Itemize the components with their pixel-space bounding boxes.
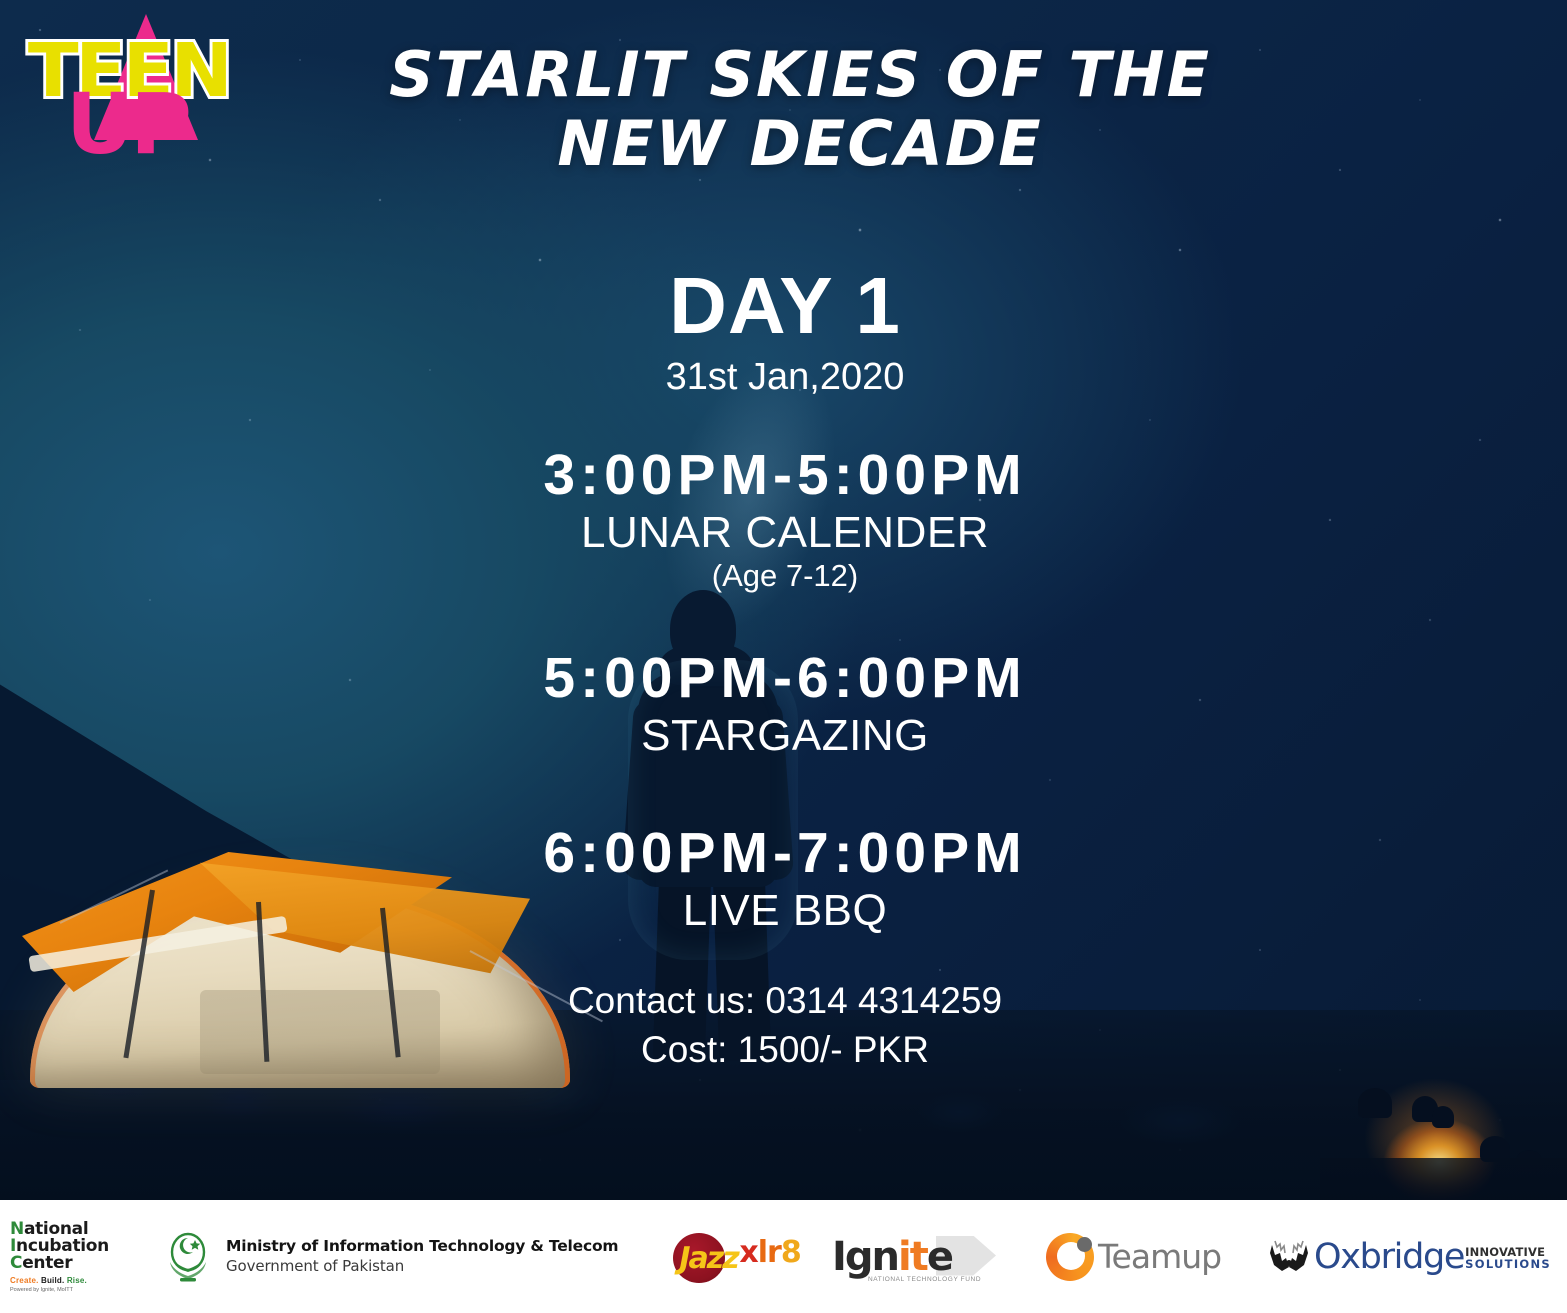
sponsor-national-incubation-center[interactable]: National Incubation Center Create. Build… bbox=[10, 1221, 140, 1293]
schedule-item: 6:00PM-7:00PM LIVE BBQ bbox=[285, 822, 1285, 935]
nic-tagline-3: Rise. bbox=[67, 1276, 87, 1285]
schedule-time: 5:00PM-6:00PM bbox=[285, 647, 1285, 711]
schedule-time: 3:00PM-5:00PM bbox=[285, 444, 1285, 508]
schedule-activity: LIVE BBQ bbox=[285, 886, 1285, 935]
schedule-activity: LUNAR CALENDER bbox=[285, 508, 1285, 557]
nic-tagline-1: Create. bbox=[10, 1276, 39, 1285]
xlr8-r: r bbox=[767, 1235, 781, 1270]
contact-cost: Cost: 1500/- PKR bbox=[285, 1026, 1285, 1075]
logo-up-text: UP bbox=[66, 82, 188, 166]
xlr8-l: l bbox=[758, 1235, 767, 1270]
oxbridge-wordmark: Oxbridge bbox=[1314, 1237, 1464, 1277]
schedule-age-range: (Age 7-12) bbox=[285, 557, 1285, 594]
sponsor-ministry-of-it[interactable]: Ministry of Information Technology & Tel… bbox=[162, 1228, 618, 1286]
teamup-swirl-icon bbox=[1046, 1233, 1094, 1281]
oxbridge-sub-line-2: SOLUTIONS bbox=[1465, 1259, 1551, 1271]
nic-subline: Powered by Ignite, MoITT bbox=[10, 1287, 140, 1293]
nic-line-3: Center bbox=[10, 1255, 140, 1272]
ministry-text: Ministry of Information Technology & Tel… bbox=[226, 1237, 618, 1275]
ignite-wordmark: Ignite bbox=[832, 1234, 952, 1280]
schedule-list: 3:00PM-5:00PM LUNAR CALENDER (Age 7-12) … bbox=[285, 444, 1285, 934]
sponsor-jazz-xlr8[interactable]: Jazz xlr8 bbox=[673, 1229, 823, 1285]
ignite-part-3: e bbox=[927, 1234, 952, 1280]
sponsor-bar: National Incubation Center Create. Build… bbox=[0, 1200, 1567, 1313]
ignite-subtitle: NATIONAL TECHNOLOGY FUND bbox=[868, 1276, 981, 1283]
sponsor-ignite[interactable]: Ignite NATIONAL TECHNOLOGY FUND bbox=[832, 1226, 992, 1288]
pakistan-emblem-icon bbox=[162, 1228, 214, 1286]
campfire bbox=[1320, 1040, 1567, 1210]
ignite-part-2: it bbox=[898, 1234, 927, 1280]
sponsor-teamup[interactable]: Teamup bbox=[1046, 1229, 1226, 1285]
day-date: 31st Jan,2020 bbox=[285, 357, 1285, 399]
contact-block: Contact us: 0314 4314259 Cost: 1500/- PK… bbox=[285, 977, 1285, 1075]
headline-line-1: STARLIT SKIES OF THE bbox=[300, 40, 1300, 109]
ministry-line-2: Government of Pakistan bbox=[226, 1257, 618, 1276]
campfire-plant bbox=[1432, 1106, 1454, 1128]
oxbridge-hands-icon bbox=[1266, 1237, 1312, 1277]
day-title: DAY 1 bbox=[285, 265, 1285, 347]
ignite-part-1: Ign bbox=[832, 1234, 898, 1280]
xlr8-x: x bbox=[739, 1235, 757, 1270]
campfire-plant bbox=[1358, 1088, 1392, 1118]
schedule-item: 3:00PM-5:00PM LUNAR CALENDER (Age 7-12) bbox=[285, 444, 1285, 594]
nic-tagline: Create. Build. Rise. bbox=[10, 1276, 140, 1285]
schedule-time: 6:00PM-7:00PM bbox=[285, 822, 1285, 886]
schedule-item: 5:00PM-6:00PM STARGAZING bbox=[285, 647, 1285, 760]
poster-headline: STARLIT SKIES OF THE NEW DECADE bbox=[300, 40, 1300, 179]
xlr8-wordmark: xlr8 bbox=[739, 1235, 800, 1270]
nic-tagline-2: Build. bbox=[41, 1276, 64, 1285]
contact-phone: Contact us: 0314 4314259 bbox=[285, 977, 1285, 1026]
sponsor-oxbridge[interactable]: Oxbridge INNOVATIVE SOLUTIONS bbox=[1266, 1237, 1551, 1277]
schedule-activity: STARGAZING bbox=[285, 711, 1285, 760]
ministry-line-1: Ministry of Information Technology & Tel… bbox=[226, 1237, 618, 1256]
headline-line-2: NEW DECADE bbox=[300, 109, 1300, 178]
jazz-wordmark: Jazz bbox=[679, 1241, 737, 1276]
xlr8-8: 8 bbox=[781, 1235, 801, 1270]
teamup-wordmark: Teamup bbox=[1098, 1237, 1221, 1276]
teenup-logo[interactable]: TEEN TEEN UP bbox=[22, 8, 222, 168]
poster-content: DAY 1 31st Jan,2020 3:00PM-5:00PM LUNAR … bbox=[285, 265, 1285, 1075]
event-poster: TEEN TEEN UP STARLIT SKIES OF THE NEW DE… bbox=[0, 0, 1567, 1313]
oxbridge-subtitle: INNOVATIVE SOLUTIONS bbox=[1465, 1247, 1551, 1270]
